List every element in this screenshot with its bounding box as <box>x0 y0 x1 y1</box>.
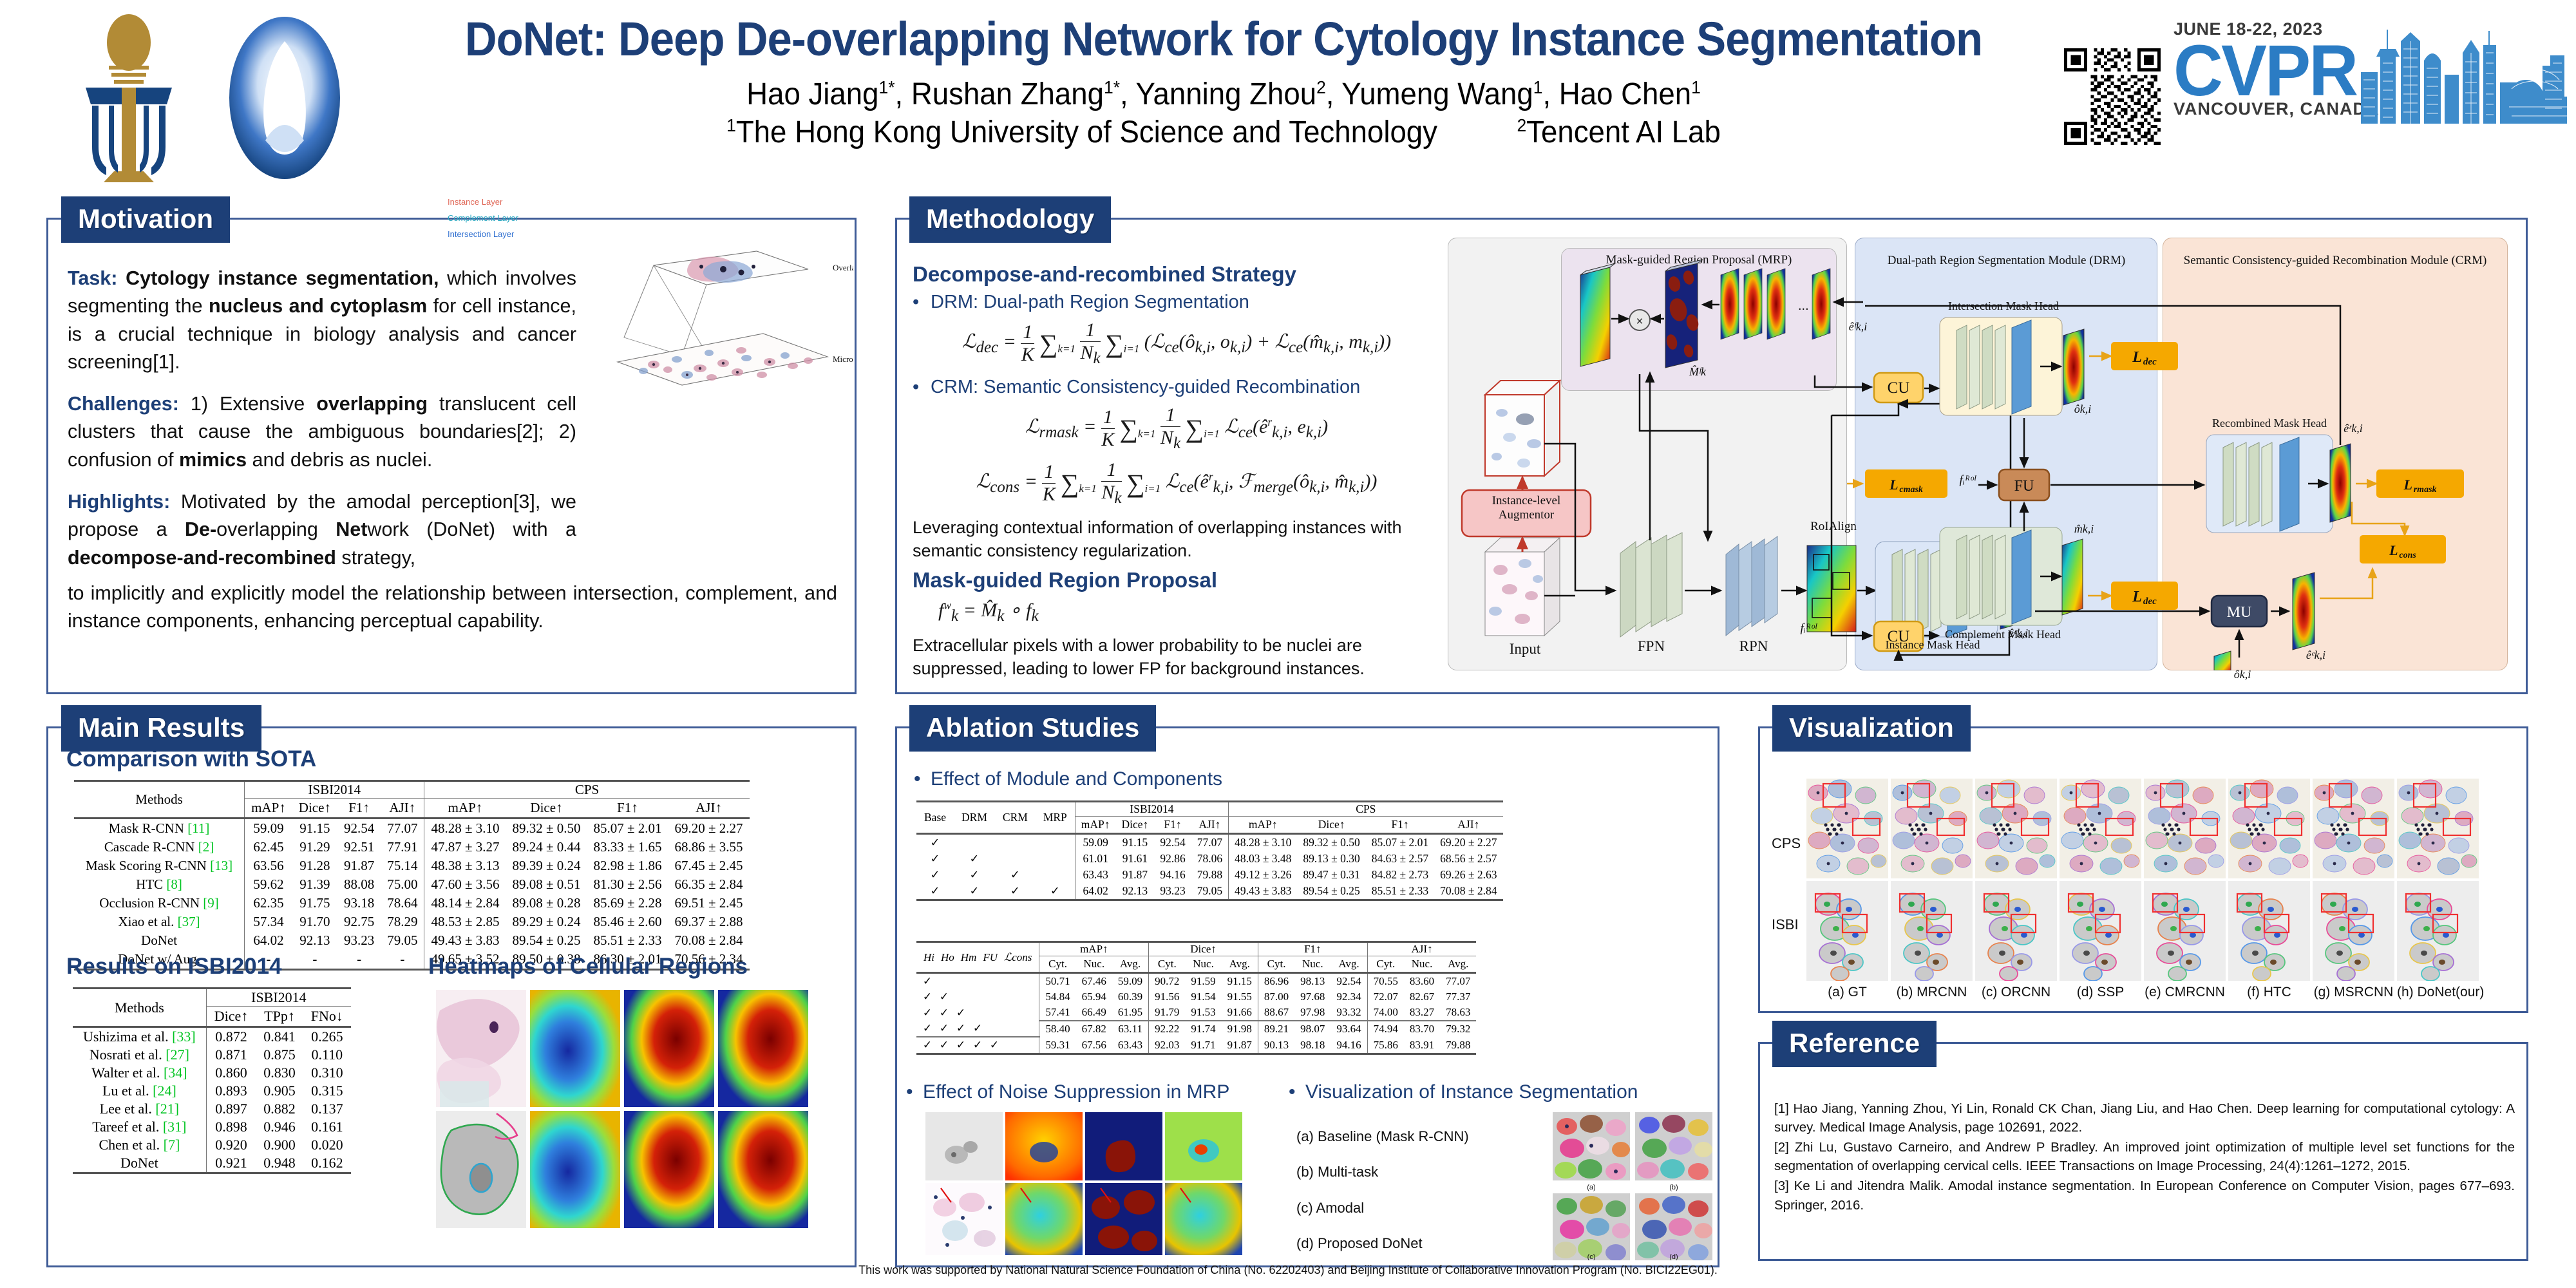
reference-item-3: [3] Ke Li and Jitendra Malik. Amodal ins… <box>1774 1177 2515 1214</box>
table-cell: 91.87 <box>337 857 381 875</box>
table-cell: 92.03 <box>1149 1037 1186 1054</box>
table-cell: 98.13 <box>1294 973 1331 990</box>
method-name: Lee et al. [21] <box>73 1100 206 1118</box>
table-cell: 48.03 ± 3.48 <box>1229 851 1298 867</box>
fpn-stack <box>1620 533 1682 637</box>
table-row: Walter et al. [34]0.8600.8300.310 <box>73 1064 351 1082</box>
table-cell: 54.84 <box>1039 989 1076 1005</box>
table-cell: 57.41 <box>1039 1005 1076 1021</box>
sym-ok-bottom-label: ôk,i <box>2217 668 2268 681</box>
col-header-sub: Avg. <box>1440 956 1476 973</box>
method-name: Chen et al. [7] <box>73 1136 206 1154</box>
table-cell: 84.82 ± 2.73 <box>1366 867 1434 883</box>
isbi-table: MethodsISBI2014Dice↑TPp↑FNo↓Ushizima et … <box>73 987 351 1174</box>
col-header-metric: AJI↑ <box>381 799 424 819</box>
svg-text:MU: MU <box>2227 604 2252 621</box>
table-cell: 89.13 ± 0.30 <box>1297 851 1365 867</box>
table-cell: 85.07 ± 2.01 <box>1366 834 1434 851</box>
table-row: DoNet64.0292.1393.2379.0549.43 ± 3.8389.… <box>74 931 750 950</box>
table-cell: 59.09 <box>245 819 292 838</box>
table-cell: 49.43 ± 3.83 <box>1229 883 1298 900</box>
svg-text:FU: FU <box>2014 478 2034 495</box>
checkmark-cell: ✓✓✓ <box>916 1005 1039 1021</box>
table-cell: 86.96 <box>1258 973 1294 990</box>
table-cell: 89.54 ± 0.25 <box>1297 883 1365 900</box>
recombined-head-label: Recombined Mask Head <box>2195 417 2344 430</box>
vis-cell-cps <box>2228 779 2310 878</box>
method-name: HTC [8] <box>74 875 245 894</box>
col-header-sub: Avg. <box>1112 956 1149 973</box>
sym-froi-fu-label: fᵢᴿᵒᴵ <box>1942 473 1994 488</box>
table-cell: 0.860 <box>206 1064 256 1082</box>
table-cell: 0.948 <box>256 1154 303 1173</box>
method-name: Ushizima et al. [33] <box>73 1027 206 1046</box>
visualization-column: (d) SSP <box>2060 779 2141 1000</box>
mrp-note: Extracellular pixels with a lower probab… <box>913 634 1441 681</box>
vis-caption: (g) MSRCNN <box>2313 985 2394 1000</box>
table-cell: 91.15 <box>292 819 337 838</box>
table-row: Chen et al. [7]0.9200.9000.020 <box>73 1136 351 1154</box>
checkmark-cell: ✓ <box>995 883 1036 900</box>
table-cell: 91.39 <box>292 875 337 894</box>
affiliation-line: 1The Hong Kong University of Science and… <box>428 115 2019 150</box>
table-cell: 91.75 <box>292 894 337 913</box>
highlights-label: Highlights: <box>68 491 170 513</box>
checkmark-cell <box>995 834 1036 851</box>
vis-row-label-isbi: ISBI <box>1772 916 1799 933</box>
er-map <box>2330 444 2351 522</box>
page-title: DoNet: Deep De-overlapping Network for C… <box>445 12 2002 66</box>
vis-cell-isbi <box>2060 881 2141 981</box>
col-header-sub: Nuc. <box>1294 956 1331 973</box>
table-cell: 48.28 ± 3.10 <box>424 819 506 838</box>
svg-text:...: ... <box>1798 299 1809 313</box>
table-cell: 92.54 <box>1331 973 1367 990</box>
visualization-panel: CPS ISBI (a) GT(b) MRCNN(c) ORCNN(d) SSP… <box>1758 726 2528 1013</box>
table-cell: 91.15 <box>1222 973 1258 990</box>
col-header-metric: mAP↑ <box>1075 817 1115 834</box>
method-name: Tareef et al. [31] <box>73 1118 206 1136</box>
challenges-text-1: 1) Extensive <box>179 393 316 415</box>
col-header-metric: Dice↑ <box>1297 817 1365 834</box>
methodology-heading: Methodology <box>909 196 1111 243</box>
table-cell: 66.49 <box>1076 1005 1112 1021</box>
col-header-metric: F1↑ <box>1154 817 1191 834</box>
title-block: DoNet: Deep De-overlapping Network for C… <box>386 12 2061 150</box>
vis-caption-d: (d) <box>1669 1253 1678 1260</box>
table-cell: 91.79 <box>1149 1005 1186 1021</box>
table-cell: 91.53 <box>1185 1005 1221 1021</box>
reference-panel: [1] Hao Jiang, Yanning Zhou, Yi Lin, Ron… <box>1758 1042 2528 1261</box>
col-header-metric: Dice↑ <box>206 1007 256 1027</box>
col-group-isbi: ISBI2014 <box>245 781 424 799</box>
table-cell: 70.08 ± 2.84 <box>1434 883 1502 900</box>
table-cell: 77.07 <box>1440 973 1476 990</box>
checkmark-cell: ✓ <box>916 973 1039 990</box>
table-cell: 62.35 <box>245 894 292 913</box>
complement-layer-label: Complement Layer <box>448 213 518 223</box>
table-cell: 0.921 <box>206 1154 256 1173</box>
col-header-sub: Avg. <box>1222 956 1258 973</box>
table-cell: 91.87 <box>1222 1037 1258 1054</box>
module-table-wrap: BaseDRMCRMMRPISBI2014CPSmAP↑Dice↑F1↑AJI↑… <box>916 800 1503 901</box>
table-cell: 65.94 <box>1076 989 1112 1005</box>
sym-mf-label: M̂ᶠk <box>1672 365 1723 379</box>
table-cell: 0.265 <box>303 1027 351 1046</box>
microscopy-image-caption: Microscopy Image <box>833 354 853 364</box>
method-name: Mask Scoring R-CNN [13] <box>74 857 245 875</box>
table-cell: - <box>292 950 337 970</box>
table-cell: 89.08 ± 0.28 <box>506 894 587 913</box>
table-cell: 79.05 <box>381 931 424 950</box>
checkmark-cell: ✓ <box>916 867 954 883</box>
table-row: HTC [8]59.6291.3988.0875.0047.60 ± 3.568… <box>74 875 750 894</box>
reference-item-2: [2] Zhi Lu, Gustavo Carneiro, and Andrew… <box>1774 1138 2515 1175</box>
table-cell: 48.14 ± 2.84 <box>424 894 506 913</box>
table-cell: 70.08 ± 2.84 <box>668 931 750 950</box>
table-cell: 88.08 <box>337 875 381 894</box>
mrp-feature-map <box>1580 263 1615 366</box>
table-cell: 89.29 ± 0.24 <box>506 913 587 931</box>
table-cell: 83.27 <box>1404 1005 1440 1021</box>
sym-ok-top-label: ôk,i <box>2057 402 2108 416</box>
table-cell: 85.51 ± 2.33 <box>1366 883 1434 900</box>
vis-cell-cps <box>2060 779 2141 878</box>
table-cell: 91.70 <box>292 913 337 931</box>
col-header-metric: AJI↑ <box>1191 817 1229 834</box>
col-header-metric: F1↑ <box>1366 817 1434 834</box>
intersection-layer-label: Intersection Layer <box>448 229 514 239</box>
roialign-label: RoIAlign <box>1785 520 1882 534</box>
table-cell: 64.02 <box>1075 883 1115 900</box>
augmentor-label: Instance-level Augmentor <box>1463 494 1589 523</box>
motivation-highlights-tail: to implicitly and explicitly model the r… <box>68 580 837 636</box>
table-cell: 0.905 <box>256 1082 303 1100</box>
method-name: Lu et al. [24] <box>73 1082 206 1100</box>
col-header-metric: TPp↑ <box>256 1007 303 1027</box>
checkmark-cell: ✓ <box>1036 883 1075 900</box>
noise-suppression-figure <box>925 1112 1254 1256</box>
table-cell: 0.875 <box>256 1046 303 1064</box>
task-bold-2: nucleus and cytoplasm <box>209 295 427 317</box>
table-cell: 98.07 <box>1294 1021 1331 1037</box>
vancouver-skyline-icon <box>2357 27 2570 124</box>
overlapping-cells-figure: Overlapping Cells Microscopy Image <box>615 242 853 455</box>
table-cell: 79.32 <box>1440 1021 1476 1037</box>
col-header-check: CRM <box>995 802 1036 834</box>
col-header-sub: Cyt. <box>1039 956 1076 973</box>
table-cell: 85.69 ± 2.28 <box>587 894 668 913</box>
highlights-text-4: strategy, <box>336 547 415 569</box>
bullet-module: Effect of Module and Components <box>914 768 1222 790</box>
col-group-metric: AJI↑ <box>1367 942 1476 956</box>
table-cell: 61.01 <box>1075 851 1115 867</box>
vis-legend-list: (a) Baseline (Mask R-CNN) (b) Multi-task… <box>1296 1119 1469 1262</box>
vis-cell-cps <box>2144 779 2226 878</box>
table-cell: 83.91 <box>1404 1037 1440 1054</box>
table-cell: 92.51 <box>337 838 381 857</box>
checkmark-cell: ✓ <box>916 883 954 900</box>
table-cell: 89.32 ± 0.50 <box>506 819 587 838</box>
table-cell: 0.900 <box>256 1136 303 1154</box>
table-row: Xiao et al. [37]57.3491.7092.7578.2948.5… <box>74 913 750 931</box>
motivation-task: Task: Cytology instance segmentation, wh… <box>68 265 576 376</box>
mk-map <box>2062 539 2083 615</box>
col-group-metric: F1↑ <box>1258 942 1367 956</box>
col-header-metric: F1↑ <box>337 799 381 819</box>
table-cell: 90.72 <box>1149 973 1186 990</box>
challenges-bold-1: overlapping <box>316 393 428 415</box>
sym-froi-backbone-label: fᵢᴿᵒᴵ <box>1780 621 1838 636</box>
table-cell: 90.13 <box>1258 1037 1294 1054</box>
table-cell: 91.71 <box>1185 1037 1221 1054</box>
vis-cell-isbi <box>1891 881 1973 981</box>
isbi-title: Results on ISBI2014 <box>66 954 282 980</box>
col-header-metric: mAP↑ <box>245 799 292 819</box>
table-cell: 82.67 <box>1404 989 1440 1005</box>
methodology-panel: Decompose-and-recombined Strategy DRM: D… <box>895 218 2528 694</box>
crm-note: Leveraging contextual information of ove… <box>913 516 1441 563</box>
col-header-metric: Dice↑ <box>506 799 587 819</box>
vis-cell-cps <box>1806 779 1888 878</box>
layer-overlapping-cells <box>654 251 808 285</box>
table-cell: 58.40 <box>1039 1021 1076 1037</box>
table-cell: 89.47 ± 0.31 <box>1297 867 1365 883</box>
input-label: Input <box>1480 641 1570 658</box>
table-cell: 68.56 ± 2.57 <box>1434 851 1502 867</box>
ee-map <box>2293 573 2315 650</box>
table-cell: 93.23 <box>337 931 381 950</box>
method-name: Mask R-CNN [11] <box>74 819 245 838</box>
table-cell: 0.893 <box>206 1082 256 1100</box>
svg-text:CU: CU <box>1888 379 1910 397</box>
table-cell: 0.315 <box>303 1082 351 1100</box>
vis-caption-c: (c) <box>1587 1253 1596 1260</box>
col-header-methods: Methods <box>73 989 206 1027</box>
method-name: Occlusion R-CNN [9] <box>74 894 245 913</box>
highlights-text-2: overlapping <box>216 518 336 540</box>
table-cell: 67.46 <box>1076 973 1112 990</box>
col-group-cps: CPS <box>424 781 750 799</box>
table-cell: 63.43 <box>1075 867 1115 883</box>
layer-microscopy-image <box>618 334 828 385</box>
checkmark-cell: ✓ <box>954 883 995 900</box>
table-cell: 59.62 <box>245 875 292 894</box>
table-cell: 0.920 <box>206 1136 256 1154</box>
col-group-cps: CPS <box>1229 802 1503 817</box>
vis-cell-isbi <box>2397 881 2479 981</box>
col-header-check: Base <box>916 802 954 834</box>
motivation-challenges: Challenges: 1) Extensive overlapping tra… <box>68 390 576 474</box>
checkmark-cell <box>954 834 995 851</box>
table-cell: 50.71 <box>1039 973 1076 990</box>
table-cell: 91.59 <box>1185 973 1221 990</box>
vis-legend-item-d: (d) Proposed DoNet <box>1296 1226 1469 1261</box>
table-cell: 70.55 <box>1367 973 1404 990</box>
table-cell: 48.53 ± 2.85 <box>424 913 506 931</box>
method-name: DoNet <box>73 1154 206 1173</box>
table-cell: 92.75 <box>337 913 381 931</box>
checkmark-cell: ✓ <box>954 851 995 867</box>
table-cell: 82.98 ± 1.86 <box>587 857 668 875</box>
visualization-column: (f) HTC <box>2228 779 2310 1000</box>
heatmap-title: Heatmaps of Cellular Regions <box>428 954 748 980</box>
author-list: Hao Jiang1*, Rushan Zhang1*, Yanning Zho… <box>428 77 2019 112</box>
table-cell: 91.74 <box>1185 1021 1221 1037</box>
vis-cell-cps <box>1975 779 2057 878</box>
table-cell: 0.161 <box>303 1118 351 1136</box>
vis-cell-cps <box>2397 779 2479 878</box>
table-cell: 0.946 <box>256 1118 303 1136</box>
table-cell: 69.26 ± 2.63 <box>1434 867 1502 883</box>
table-cell: 69.51 ± 2.45 <box>668 894 750 913</box>
table-cell: 91.66 <box>1222 1005 1258 1021</box>
table-cell: 74.94 <box>1367 1021 1404 1037</box>
table-row: Ushizima et al. [33]0.8720.8410.265 <box>73 1027 351 1046</box>
table-cell: 89.21 <box>1258 1021 1294 1037</box>
checkmark-cell: ✓ <box>916 851 954 867</box>
table-cell: 91.87 <box>1116 867 1155 883</box>
table-row: Lu et al. [24]0.8930.9050.315 <box>73 1082 351 1100</box>
table-row: ✓✓✓63.4391.8794.1679.8849.12 ± 3.2689.47… <box>916 867 1503 883</box>
col-header-sub: Cyt. <box>1367 956 1404 973</box>
augmented-cube <box>1485 381 1560 476</box>
vis-caption: (f) HTC <box>2228 985 2310 1000</box>
poster-header: DoNet: Deep De-overlapping Network for C… <box>0 0 2576 193</box>
method-name: Xiao et al. [37] <box>74 913 245 931</box>
table-cell: 78.63 <box>1440 1005 1476 1021</box>
table-cell: 69.20 ± 2.27 <box>1434 834 1502 851</box>
highlights-bold-3: decompose-and-recombined <box>68 547 336 569</box>
table-row: Cascade R-CNN [2]62.4591.2992.5177.9147.… <box>74 838 750 857</box>
motivation-highlights: Highlights: Motivated by the amodal perc… <box>68 488 576 572</box>
col-header-sub: Nuc. <box>1404 956 1440 973</box>
table-cell: 75.00 <box>381 875 424 894</box>
table-cell: 0.898 <box>206 1118 256 1136</box>
affiliation-2: Tencent AI Lab <box>1526 115 1721 149</box>
bullet-drm: DRM: Dual-path Region Segmentation <box>913 292 1441 313</box>
checkmark-cell: ✓ <box>954 867 995 883</box>
vis-row-label-cps: CPS <box>1772 835 1801 852</box>
visualization-column: (c) ORCNN <box>1975 779 2057 1000</box>
tencent-logo <box>213 14 357 182</box>
table-cell: 69.37 ± 2.88 <box>668 913 750 931</box>
col-header-metric: Dice↑ <box>1116 817 1155 834</box>
table-row: ✓✓61.0191.6192.8678.0648.03 ± 3.4889.13 … <box>916 851 1503 867</box>
checkmark-cell: ✓✓✓✓ <box>916 1021 1039 1037</box>
highlights-bold-1: De- <box>185 518 216 540</box>
bullet-noise: Effect of Noise Suppression in MRP <box>906 1081 1229 1103</box>
overlapping-cells-caption: Overlapping Cells <box>833 263 853 272</box>
table-cell: 0.110 <box>303 1046 351 1064</box>
table-row: ✓50.7167.4659.0990.7291.5991.1586.9698.1… <box>916 973 1476 990</box>
col-group-isbi: ISBI2014 <box>1075 802 1228 817</box>
sym-er-label: êʳk,i <box>2327 422 2379 435</box>
table-cell: 0.897 <box>206 1100 256 1118</box>
table-cell: 0.882 <box>256 1100 303 1118</box>
vis-cell-isbi <box>2144 881 2226 981</box>
table-cell: 0.841 <box>256 1027 303 1046</box>
sym-ec-label: êᶜk,i <box>1993 627 2044 640</box>
motivation-panel: Task: Cytology instance segmentation, wh… <box>46 218 857 694</box>
table-cell: 63.43 <box>1112 1037 1149 1054</box>
isbi-table-wrap: MethodsISBI2014Dice↑TPp↑FNo↓Ushizima et … <box>73 987 351 1174</box>
col-header-metric: FNo↓ <box>303 1007 351 1027</box>
table-row: Occlusion R-CNN [9]62.3591.7593.1878.644… <box>74 894 750 913</box>
qr-code-icon <box>2064 48 2161 145</box>
checkmark-cell: ✓ <box>916 834 954 851</box>
table-cell: 92.54 <box>1154 834 1191 851</box>
table-row: ✓59.0991.1592.5477.0748.28 ± 3.1089.32 ±… <box>916 834 1503 851</box>
table-cell: 89.54 ± 0.25 <box>506 931 587 950</box>
sym-ee-label: êᵉk,i <box>2290 649 2342 662</box>
bullet-vis: Visualization of Instance Segmentation <box>1289 1081 1638 1103</box>
table-cell: 89.24 ± 0.44 <box>506 838 587 857</box>
vis-legend-item-c: (c) Amodal <box>1296 1190 1469 1226</box>
checkmark-cell: ✓ <box>995 867 1036 883</box>
sota-table: MethodsISBI2014CPSmAP↑Dice↑F1↑AJI↑mAP↑Di… <box>74 780 750 971</box>
table-cell: 92.13 <box>292 931 337 950</box>
table-row: Tareef et al. [31]0.8980.9460.161 <box>73 1118 351 1136</box>
table-row: Nosrati et al. [27]0.8710.8750.110 <box>73 1046 351 1064</box>
checkmark-cell <box>1036 867 1075 883</box>
task-label: Task: <box>68 267 117 289</box>
challenges-text-3: and debris as nuclei. <box>247 449 432 471</box>
ok-map-top <box>2063 329 2084 405</box>
table-cell: 78.06 <box>1191 851 1229 867</box>
rpn-stack <box>1726 536 1777 636</box>
table-cell: 77.37 <box>1440 989 1476 1005</box>
table-cell: 98.18 <box>1294 1037 1331 1054</box>
fpn-label: FPN <box>1613 638 1690 655</box>
motivation-heading: Motivation <box>61 196 230 243</box>
table-cell: 0.310 <box>303 1064 351 1082</box>
table-cell: 63.11 <box>1112 1021 1149 1037</box>
table-cell: 89.39 ± 0.24 <box>506 857 587 875</box>
col-header-sub: Cyt. <box>1258 956 1294 973</box>
input-cube <box>1485 538 1560 636</box>
table-cell: 83.60 <box>1404 973 1440 990</box>
table-cell: 89.08 ± 0.51 <box>506 875 587 894</box>
method-name: DoNet <box>74 931 245 950</box>
table-cell: 77.07 <box>1191 834 1229 851</box>
vis-cell-isbi <box>2228 881 2310 981</box>
checkmark-cell: ✓✓ <box>916 989 1039 1005</box>
instance-layer-label: Instance Layer <box>448 197 502 207</box>
table-row: DoNet0.9210.9480.162 <box>73 1154 351 1173</box>
table-cell: - <box>381 950 424 970</box>
checkmark-cell <box>1036 834 1075 851</box>
table-cell: 78.29 <box>381 913 424 931</box>
vis-cell-isbi <box>1806 881 1888 981</box>
table-cell: 92.34 <box>1331 989 1367 1005</box>
table-cell: 75.86 <box>1367 1037 1404 1054</box>
ablation-heading: Ablation Studies <box>909 705 1156 752</box>
col-header-sub: Nuc. <box>1076 956 1112 973</box>
visualization-column: (e) CMRCNN <box>2144 779 2226 1000</box>
table-row: ✓✓✓57.4166.4961.9591.7991.5391.6688.6797… <box>916 1005 1476 1021</box>
sym-mk-label: m̂k,i <box>2058 522 2110 536</box>
table-cell: 72.07 <box>1367 989 1404 1005</box>
task-bold-1: Cytology instance segmentation, <box>126 267 439 289</box>
table-row: ✓✓✓✓64.0292.1393.2379.0549.43 ± 3.8389.5… <box>916 883 1503 900</box>
reference-item-1: [1] Hao Jiang, Yanning Zhou, Yi Lin, Ron… <box>1774 1099 2515 1137</box>
equation-dec: ℒdec = 1K ∑k=1 1Nk ∑i=1 (ℒce(ôk,i, ok,i)… <box>913 319 1441 368</box>
vis-legend-item-a: (a) Baseline (Mask R-CNN) <box>1296 1119 1469 1154</box>
method-name: Cascade R-CNN [2] <box>74 838 245 857</box>
table-row: Mask Scoring R-CNN [13]63.5691.2891.8775… <box>74 857 750 875</box>
vis-cell-isbi <box>2313 881 2394 981</box>
